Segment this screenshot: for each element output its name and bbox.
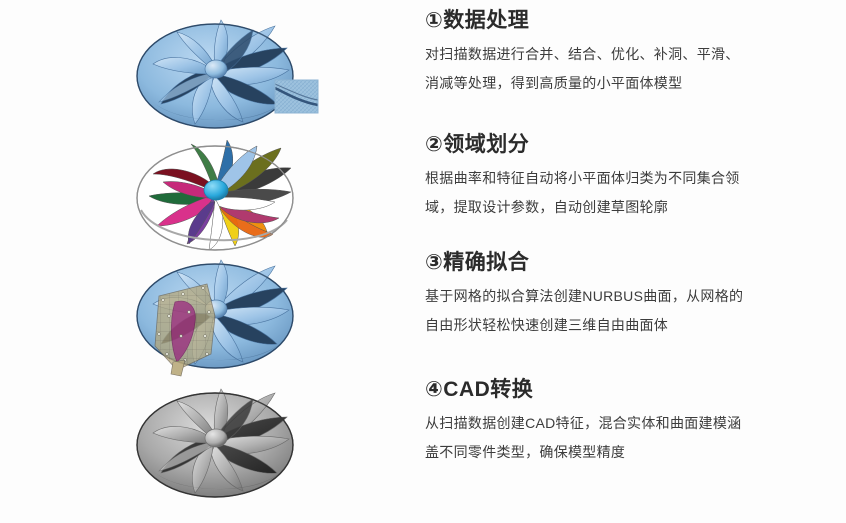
step-text-1: ①数据处理 对扫描数据进行合并、结合、优化、补洞、平滑、 消减等处理，得到高质量… (425, 8, 785, 98)
step-row-4: ④CAD转换 从扫描数据创建CAD特征，混合实体和曲面建模涵 盖不同零件类型，确… (0, 377, 846, 501)
step-heading-3: ③精确拟合 (425, 250, 785, 276)
step-body-2-line-2: 域，提取设计参数，自动创建草图轮廓 (425, 193, 785, 222)
step-heading-4: ④CAD转换 (425, 377, 785, 403)
step-row-2: ②领域划分 根据曲率和特征自动将小平面体归类为不同集合领 域，提取设计参数，自动… (0, 132, 846, 256)
step-heading-2: ②领域划分 (425, 132, 785, 158)
step-row-3: ③精确拟合 基于网格的拟合算法创建NURBUS曲面，从网格的 自由形状轻松快速创… (0, 250, 846, 374)
step-heading-1: ①数据处理 (425, 8, 785, 34)
blue-mesh-impeller-svg (115, 8, 405, 138)
feature-steps-page: ①数据处理 对扫描数据进行合并、结合、优化、补洞、平滑、 消减等处理，得到高质量… (0, 0, 846, 523)
figure-grey-cad-impeller (115, 377, 405, 507)
step-body-4-line-2: 盖不同零件类型，确保模型精度 (425, 438, 785, 467)
color-segmented-impeller-svg (115, 132, 405, 262)
step-body-1-line-1: 对扫描数据进行合并、结合、优化、补洞、平滑、 (425, 40, 785, 69)
figure-color-segmented-impeller (115, 132, 405, 262)
step-text-2: ②领域划分 根据曲率和特征自动将小平面体归类为不同集合领 域，提取设计参数，自动… (425, 132, 785, 222)
mesh-zoom-inset (275, 80, 318, 113)
grey-cad-impeller-svg (115, 377, 405, 507)
step-row-1: ①数据处理 对扫描数据进行合并、结合、优化、补洞、平滑、 消减等处理，得到高质量… (0, 8, 846, 132)
figure-nurbs-fitting-impeller (115, 250, 405, 380)
step-body-4-line-1: 从扫描数据创建CAD特征，混合实体和曲面建模涵 (425, 409, 785, 438)
figure-blue-mesh-impeller (115, 8, 405, 138)
step-body-2-line-1: 根据曲率和特征自动将小平面体归类为不同集合领 (425, 164, 785, 193)
step-text-4: ④CAD转换 从扫描数据创建CAD特征，混合实体和曲面建模涵 盖不同零件类型，确… (425, 377, 785, 467)
step-body-3-line-1: 基于网格的拟合算法创建NURBUS曲面，从网格的 (425, 282, 785, 311)
step-body-3-line-2: 自由形状轻松快速创建三维自由曲面体 (425, 311, 785, 340)
step-text-3: ③精确拟合 基于网格的拟合算法创建NURBUS曲面，从网格的 自由形状轻松快速创… (425, 250, 785, 340)
nurbs-fitting-impeller-svg (115, 250, 405, 380)
step-body-1-line-2: 消减等处理，得到高质量的小平面体模型 (425, 69, 785, 98)
